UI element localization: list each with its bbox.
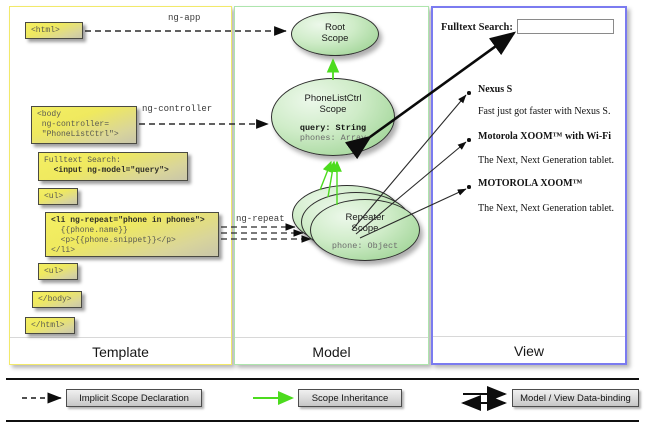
code-box-li-ng-repeat: <li ng-repeat="phone in phones"> {{phone…	[45, 212, 219, 257]
code-box-fulltext-search: Fulltext Search: <input ng-model="query"…	[38, 152, 188, 181]
code-text-bold: <li ng-repeat="phone in phones">	[51, 216, 205, 225]
fulltext-search-input[interactable]	[517, 19, 614, 34]
panel-view-divider	[433, 336, 625, 337]
scope-phonelistctrl-title: PhoneListCtrlScope	[272, 93, 394, 115]
phone-snippet: Fast just got faster with Nexus S.	[478, 106, 611, 117]
legend-item-implicit-scope-declaration: Implicit Scope Declaration	[66, 389, 202, 407]
scope-repeater: RepeaterScope phone: Object	[310, 199, 420, 261]
phone-bullet	[467, 91, 471, 95]
edge-label-ng-repeat: ng-repeat	[236, 214, 285, 224]
legend-bottom-rule	[6, 420, 639, 422]
legend-top-rule	[6, 378, 639, 380]
fulltext-search-label: Fulltext Search:	[441, 22, 513, 33]
edge-label-ng-app: ng-app	[168, 13, 200, 23]
legend-glyph-model-view-data-binding	[463, 394, 505, 403]
phone-name: Nexus S	[478, 84, 512, 95]
phone-name: Motorola XOOM™ with Wi-Fi	[478, 131, 611, 142]
phone-snippet: The Next, Next Generation tablet.	[478, 203, 614, 214]
panel-template-divider	[10, 337, 231, 338]
legend-item-model-view-data-binding: Model / View Data-binding	[512, 389, 639, 407]
panel-view-title: View	[433, 343, 625, 359]
scope-prop-phones: phones: Array	[272, 133, 394, 143]
phone-bullet	[467, 138, 471, 142]
scope-prop-phone: phone: Object	[311, 241, 419, 251]
scope-root-title: RootScope	[292, 22, 378, 44]
code-text-bold: <input ng-model="query">	[44, 166, 169, 175]
angularjs-concepts-diagram: Template Model View <html> <body ng-cont…	[0, 0, 645, 425]
phone-name: MOTOROLA XOOM™	[478, 178, 583, 189]
code-box-html-close: </html>	[25, 317, 75, 334]
panel-template: Template	[9, 6, 232, 365]
phone-snippet: The Next, Next Generation tablet.	[478, 155, 614, 166]
panel-template-title: Template	[10, 344, 231, 360]
code-box-ul-open: <ul>	[38, 188, 78, 205]
legend-item-scope-inheritance: Scope Inheritance	[298, 389, 402, 407]
code-box-body-open: <body ng-controller= "PhoneListCtrl">	[31, 106, 137, 144]
code-box-html-open: <html>	[25, 22, 83, 39]
code-box-body-close: </body>	[32, 291, 82, 308]
phone-bullet	[467, 185, 471, 189]
code-text-plain: Fulltext Search:	[44, 156, 121, 165]
scope-prop-query: query: String	[272, 123, 394, 133]
scope-root: RootScope	[291, 12, 379, 56]
code-text-plain: {{phone.name}} <p>{{phone.snippet}}</p> …	[51, 226, 176, 255]
code-box-ul-close: <ul>	[38, 263, 78, 280]
scope-repeater-title: RepeaterScope	[311, 212, 419, 234]
scope-phonelistctrl: PhoneListCtrlScope query: String phones:…	[271, 78, 395, 156]
panel-model-divider	[235, 337, 428, 338]
edge-label-ng-controller: ng-controller	[142, 104, 212, 114]
panel-model-title: Model	[235, 344, 428, 360]
